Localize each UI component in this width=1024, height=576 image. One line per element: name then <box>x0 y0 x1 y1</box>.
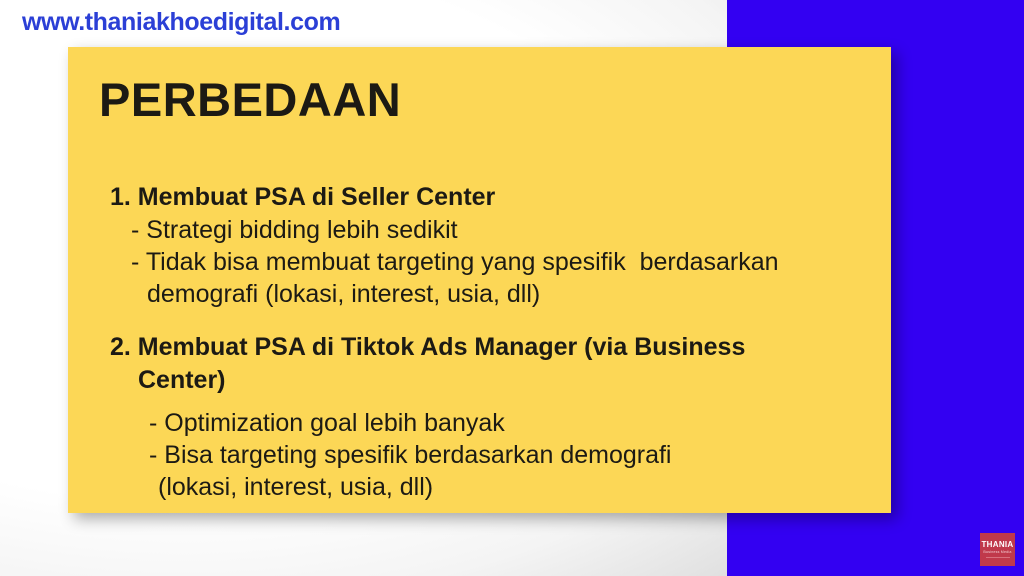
slide-title: PERBEDAAN <box>99 72 401 127</box>
website-url-text: www.thaniakhoedigital.com <box>22 8 340 37</box>
presentation-slide: www.thaniakhoedigital.com PERBEDAAN 1. M… <box>0 0 1024 576</box>
content-bullet-1-2-continuation: demografi (lokasi, interest, usia, dll) <box>68 282 948 307</box>
content-bullet-2-1: - Optimization goal lebih banyak <box>68 411 948 436</box>
content-bullet-2-2: - Bisa targeting spesifik berdasarkan de… <box>68 443 948 468</box>
brand-logo-name: THANIA <box>981 541 1013 549</box>
content-heading-1: 1. Membuat PSA di Seller Center <box>68 185 948 210</box>
content-heading-2: 2. Membuat PSA di Tiktok Ads Manager (vi… <box>68 335 948 360</box>
content-heading-2-continuation: Center) <box>68 368 948 393</box>
content-bullet-2-2-continuation: (lokasi, interest, usia, dll) <box>68 475 948 500</box>
brand-logo-tagline: Business Media <box>983 550 1011 555</box>
content-bullet-1-2: - Tidak bisa membuat targeting yang spes… <box>68 250 948 275</box>
brand-logo-divider <box>986 557 1010 558</box>
slide-body-content: 1. Membuat PSA di Seller Center - Strate… <box>68 185 948 507</box>
brand-logo-badge: THANIA Business Media <box>980 533 1015 566</box>
content-bullet-1-1: - Strategi bidding lebih sedikit <box>68 218 948 243</box>
